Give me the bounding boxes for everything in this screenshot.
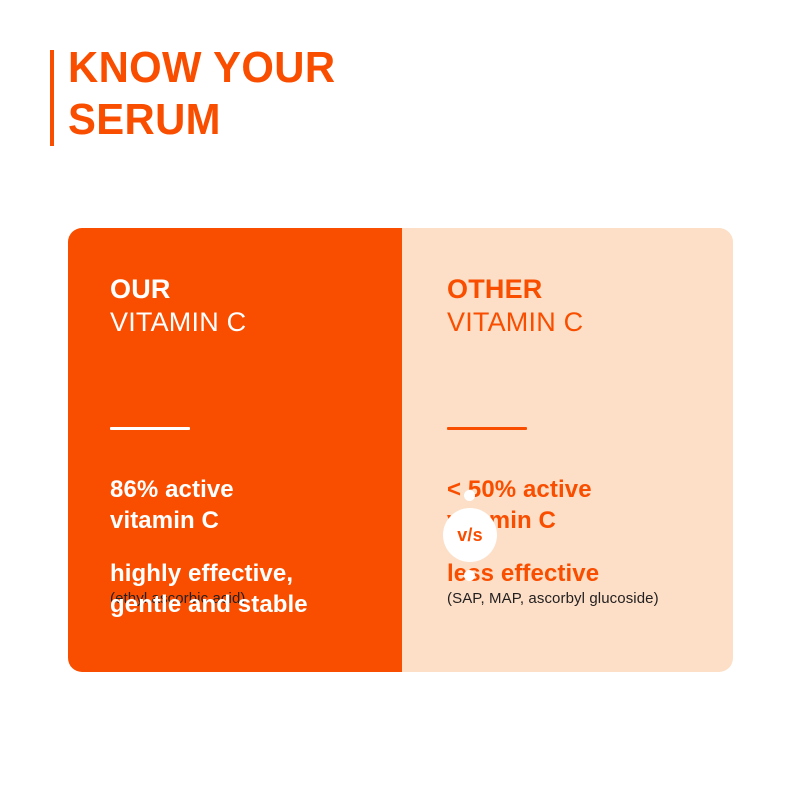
panel-our-fact-list: 86% active vitamin C highly effective, g…	[110, 474, 390, 620]
page-title-line-2: SERUM	[68, 94, 448, 146]
panel-our-fact-2: highly effective, gentle and stable	[110, 558, 390, 620]
panel-our-fact-1-line-1: 86% active	[110, 474, 390, 505]
versus-badge: v/s	[443, 508, 497, 562]
page-title-block: KNOW YOUR SERUM	[50, 48, 470, 148]
divider-dot-icon	[464, 570, 475, 581]
panel-our-vitamin-c: OUR VITAMIN C (ethyl ascorbic acid) 86% …	[68, 228, 402, 672]
panel-our-fact-2-line-2: gentle and stable	[110, 589, 390, 620]
page-title-line-1: KNOW YOUR	[68, 42, 448, 94]
comparison-card: OUR VITAMIN C (ethyl ascorbic acid) 86% …	[68, 228, 733, 672]
panel-other-fact-2: less effective	[447, 558, 721, 589]
title-accent-bar	[50, 50, 54, 146]
panel-our-fact-2-line-1: highly effective,	[110, 558, 390, 589]
panel-our-divider-rule	[110, 427, 190, 430]
panel-our-heading: OUR VITAMIN C	[110, 274, 392, 339]
panel-other-formula: (SAP, MAP, ascorbyl glucoside)	[447, 589, 725, 609]
panel-other-fact-1-line-1: < 50% active	[447, 474, 721, 505]
panel-our-fact-1: 86% active vitamin C	[110, 474, 390, 536]
panel-other-subhead: VITAMIN C	[447, 305, 723, 339]
panel-our-kicker: OUR	[110, 274, 392, 305]
panel-our-fact-1-line-2: vitamin C	[110, 505, 390, 536]
panel-other-fact-2-line-1: less effective	[447, 558, 721, 589]
versus-badge-label: v/s	[457, 526, 483, 544]
divider-dot-icon	[464, 490, 475, 501]
page-title: KNOW YOUR SERUM	[68, 42, 448, 146]
panel-other-divider-rule	[447, 427, 527, 430]
panel-our-subhead: VITAMIN C	[110, 305, 392, 339]
panel-other-heading: OTHER VITAMIN C	[447, 274, 723, 339]
panel-other-vitamin-c: OTHER VITAMIN C (SAP, MAP, ascorbyl gluc…	[402, 228, 733, 672]
infographic-page: KNOW YOUR SERUM OUR VITAMIN C (ethyl asc…	[0, 0, 800, 800]
panel-other-kicker: OTHER	[447, 274, 723, 305]
